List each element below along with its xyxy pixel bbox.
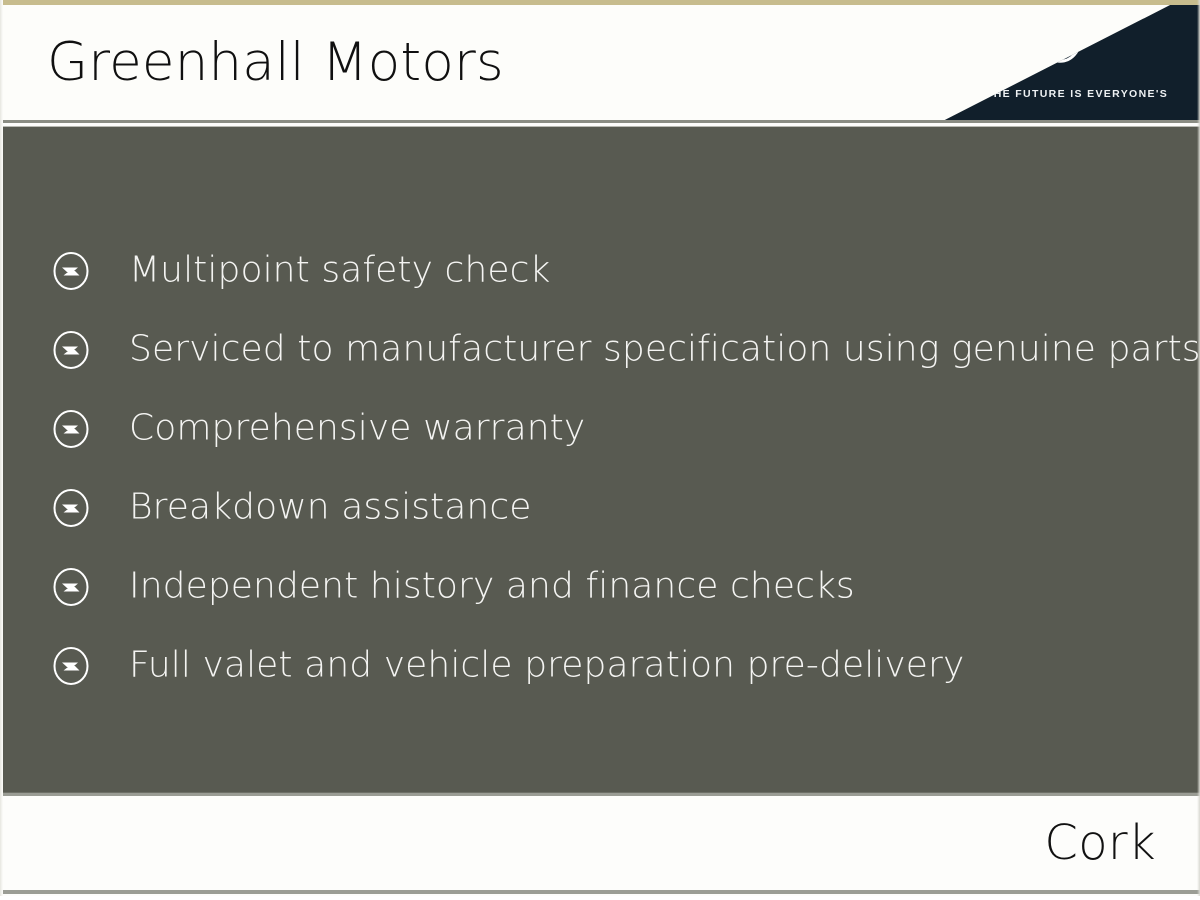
opel-blitz-bullet-icon bbox=[45, 247, 97, 295]
list-item: Comprehensive warranty bbox=[0, 389, 1200, 468]
list-item-label: Breakdown assistance bbox=[129, 486, 531, 527]
page-title: Greenhall Motors bbox=[47, 32, 504, 93]
list-item: Full valet and vehicle preparation pre-d… bbox=[0, 626, 1200, 705]
list-item-label: Comprehensive warranty bbox=[129, 407, 585, 448]
brand-panel: THE FUTURE IS EVERYONE'S bbox=[928, 5, 1200, 123]
opel-blitz-bullet-icon bbox=[45, 405, 97, 453]
list-item-label: Independent history and finance checks bbox=[129, 565, 855, 606]
features-panel: Multipoint safety check Serviced to manu… bbox=[0, 126, 1200, 794]
opel-blitz-logo-icon bbox=[1023, 13, 1097, 71]
list-item-label: Multipoint safety check bbox=[129, 249, 550, 290]
opel-blitz-bullet-icon bbox=[45, 642, 97, 690]
brand-tagline: THE FUTURE IS EVERYONE'S bbox=[928, 88, 1200, 100]
list-item-label: Full valet and vehicle preparation pre-d… bbox=[129, 644, 964, 685]
left-edge-shading bbox=[0, 0, 3, 900]
list-item: Independent history and finance checks bbox=[0, 547, 1200, 626]
list-item: Breakdown assistance bbox=[0, 468, 1200, 547]
footer-bar: Cork bbox=[0, 797, 1200, 894]
features-list: Multipoint safety check Serviced to manu… bbox=[0, 231, 1200, 705]
opel-blitz-bullet-icon bbox=[45, 563, 97, 611]
bottom-edge bbox=[0, 896, 1200, 900]
dealer-location: Cork bbox=[1044, 815, 1156, 871]
opel-blitz-bullet-icon bbox=[45, 326, 97, 374]
list-item-label: Serviced to manufacturer specification u… bbox=[129, 328, 1200, 369]
list-item: Multipoint safety check bbox=[0, 231, 1200, 310]
header-bar: Greenhall Motors THE FUTURE IS EVERYONE'… bbox=[0, 5, 1200, 123]
slide-root: Greenhall Motors THE FUTURE IS EVERYONE'… bbox=[0, 0, 1200, 900]
list-item: Serviced to manufacturer specification u… bbox=[0, 310, 1200, 389]
opel-blitz-bullet-icon bbox=[45, 484, 97, 532]
